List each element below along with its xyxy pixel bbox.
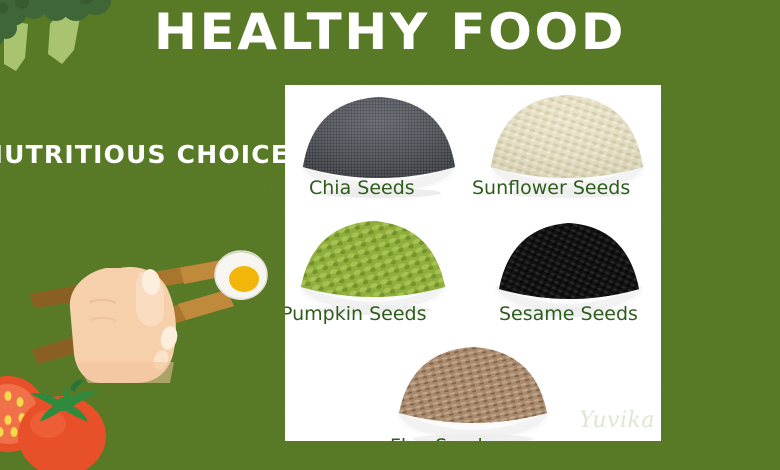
tomato-icon [0,368,134,470]
bowl-flax-seeds [381,333,565,441]
photo-watermark: Yuvika [579,408,655,433]
seed-label-sunflower: Sunflower Seeds [472,177,630,199]
seed-collage-photo: Chia Seeds [285,85,661,441]
poster-canvas: HEALTHY FOOD NUTRITIOUS CHOICES [0,0,780,470]
seed-label-sesame: Sesame Seeds [499,303,638,325]
seed-label-pumpkin: Pumpkin Seeds [285,303,427,325]
page-subtitle: NUTRITIOUS CHOICES [0,140,308,170]
seed-label-chia: Chia Seeds [309,177,415,199]
hand-chopsticks-icon [28,238,280,383]
bowl-pumpkin-seeds [285,209,463,317]
page-title: HEALTHY FOOD [0,4,780,60]
seed-label-flax: Flax Seeds [390,435,493,441]
